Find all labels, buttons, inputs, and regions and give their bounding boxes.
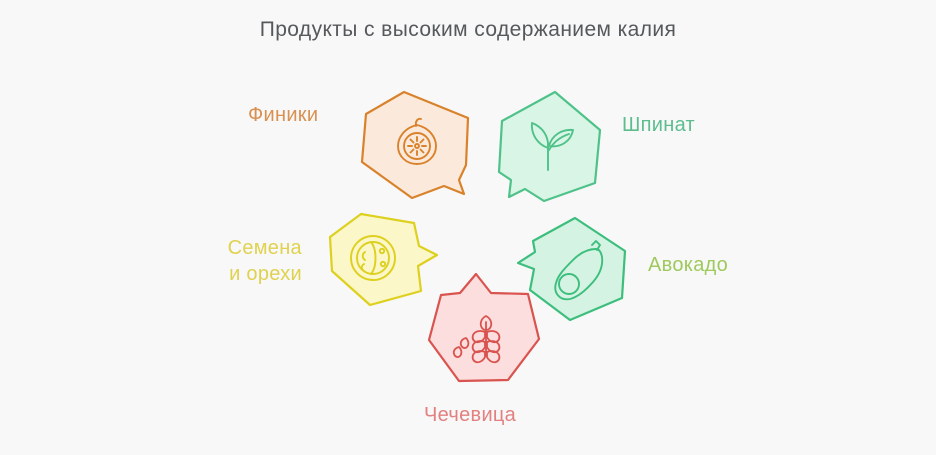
label-lentils: Чечевица	[424, 402, 516, 428]
label-seeds-line2: и орехи	[229, 263, 302, 285]
label-seeds-line1: Семена	[228, 237, 302, 259]
page-title: Продукты с высоким содержанием калия	[0, 18, 936, 42]
label-dates: Финики	[248, 102, 318, 128]
label-spinach: Шпинат	[622, 112, 695, 138]
label-seeds-nuts: Семенаи орехи	[178, 235, 302, 287]
card-dates[interactable]	[352, 88, 482, 203]
card-seeds-nuts[interactable]	[325, 203, 450, 313]
card-spinach[interactable]	[487, 88, 612, 206]
infographic-canvas: Продукты с высоким содержанием калия Фин…	[0, 0, 936, 455]
label-avocado: Авокадо	[648, 252, 728, 278]
hexagon-shape-seeds-nuts	[330, 214, 437, 305]
